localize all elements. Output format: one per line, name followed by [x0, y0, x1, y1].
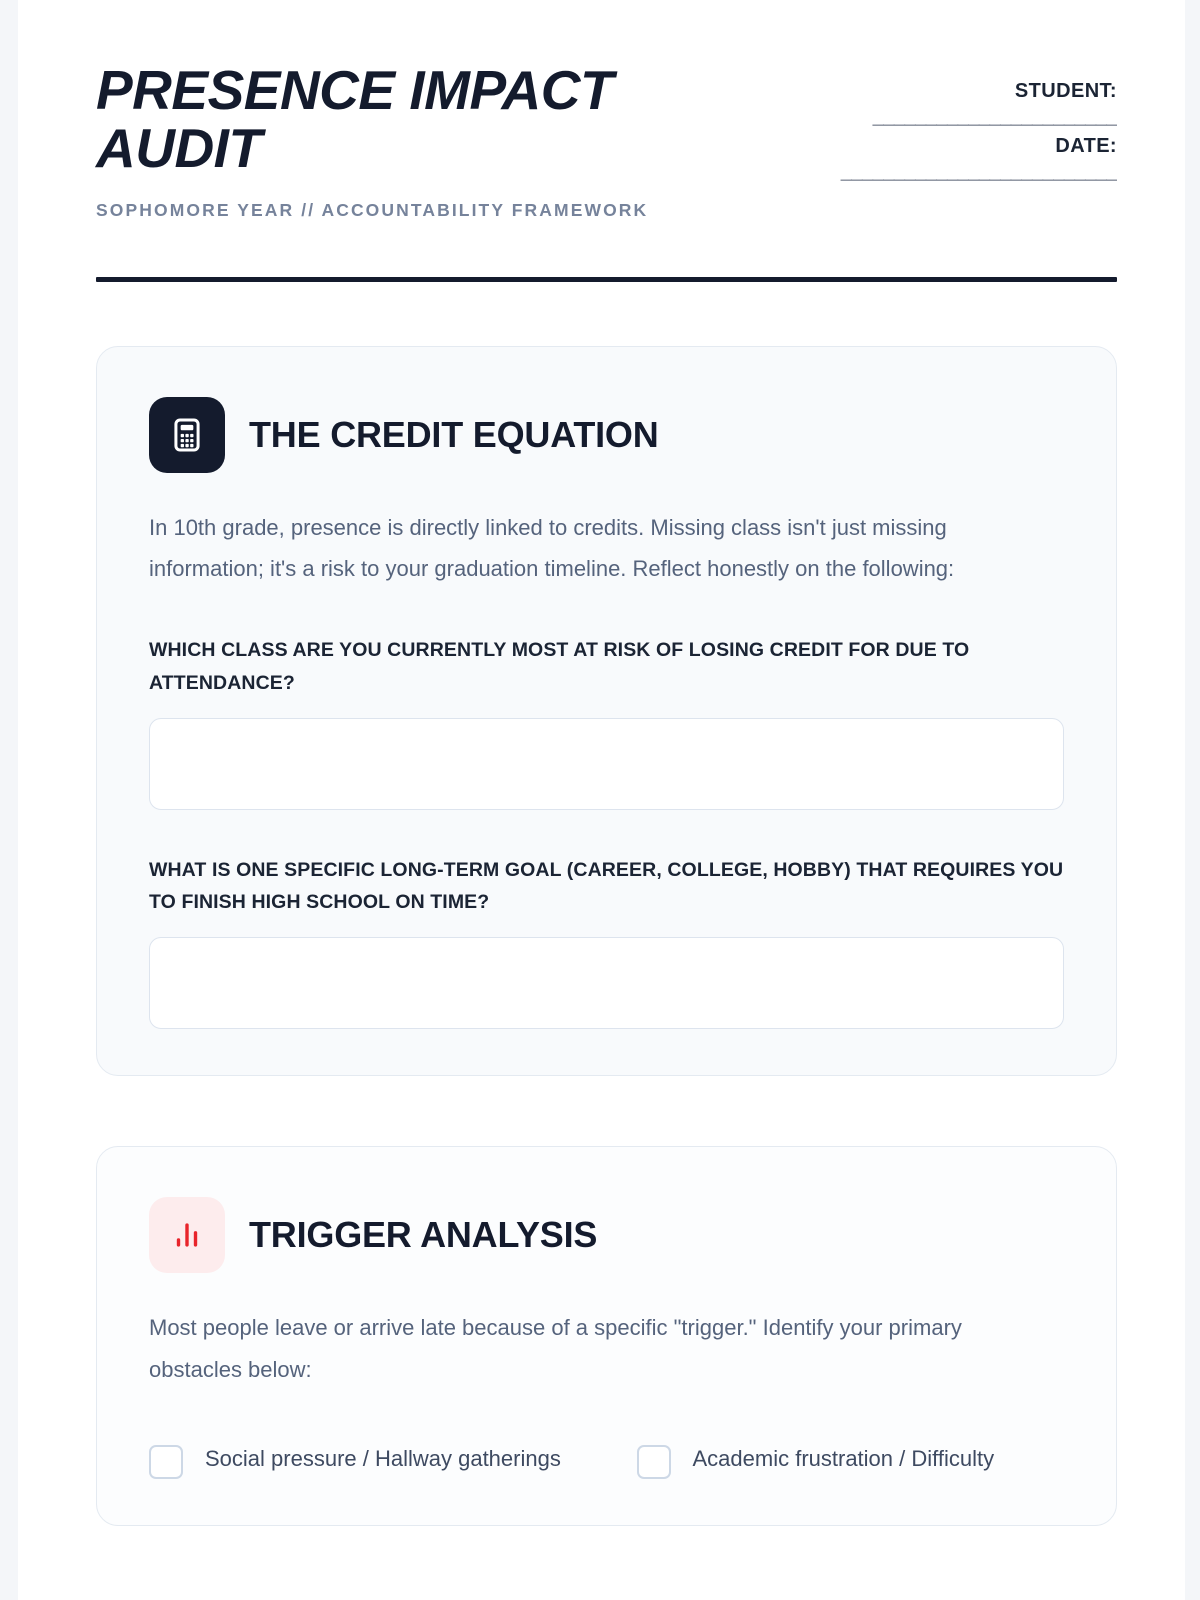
document-page: PRESENCE IMPACT AUDIT SOPHOMORE YEAR // … — [18, 0, 1185, 1600]
student-input-line[interactable]: _______________________ — [849, 106, 1117, 129]
section-title-credit-equation: THE CREDIT EQUATION — [249, 414, 659, 456]
section-header: TRIGGER ANALYSIS — [149, 1197, 1064, 1273]
bar-chart-icon — [149, 1197, 225, 1273]
page-subtitle: SOPHOMORE YEAR // ACCOUNTABILITY FRAMEWO… — [96, 200, 716, 221]
section-body-credit-equation: In 10th grade, presence is directly link… — [149, 507, 1054, 591]
checkbox-box[interactable] — [149, 1445, 183, 1479]
checkbox-label: Academic frustration / Difficulty — [693, 1439, 995, 1478]
document-header: PRESENCE IMPACT AUDIT SOPHOMORE YEAR // … — [18, 0, 1185, 221]
checkbox-item-social-pressure[interactable]: Social pressure / Hallway gatherings — [149, 1439, 577, 1479]
student-label: STUDENT: — [787, 80, 1117, 103]
date-field-row: DATE: __________________________ — [787, 135, 1117, 184]
question-label-1: WHICH CLASS ARE YOU CURRENTLY MOST AT RI… — [149, 634, 1064, 700]
checkbox-box[interactable] — [637, 1445, 671, 1479]
page-title: PRESENCE IMPACT AUDIT — [96, 62, 716, 178]
checkbox-label: Social pressure / Hallway gatherings — [205, 1439, 561, 1478]
date-label: DATE: — [787, 135, 1117, 158]
section-trigger-analysis: TRIGGER ANALYSIS Most people leave or ar… — [96, 1146, 1117, 1526]
header-title-block: PRESENCE IMPACT AUDIT SOPHOMORE YEAR // … — [96, 62, 716, 221]
sections-container: THE CREDIT EQUATION In 10th grade, prese… — [18, 346, 1185, 1526]
section-body-trigger-analysis: Most people leave or arrive late because… — [149, 1307, 1054, 1391]
header-meta-block: STUDENT: _______________________ DATE: _… — [787, 62, 1117, 190]
section-title-trigger-analysis: TRIGGER ANALYSIS — [249, 1214, 597, 1256]
header-divider — [96, 277, 1117, 282]
date-input-line[interactable]: __________________________ — [817, 161, 1117, 184]
section-credit-equation: THE CREDIT EQUATION In 10th grade, prese… — [96, 346, 1117, 1077]
question-label-2: WHAT IS ONE SPECIFIC LONG-TERM GOAL (CAR… — [149, 854, 1064, 920]
trigger-checkbox-grid: Social pressure / Hallway gatherings Aca… — [149, 1439, 1064, 1479]
checkbox-item-academic-frustration[interactable]: Academic frustration / Difficulty — [637, 1439, 1065, 1479]
answer-input-2[interactable] — [149, 937, 1064, 1029]
student-field-row: STUDENT: _______________________ — [787, 80, 1117, 129]
section-header: THE CREDIT EQUATION — [149, 397, 1064, 473]
answer-input-1[interactable] — [149, 718, 1064, 810]
calculator-icon — [149, 397, 225, 473]
